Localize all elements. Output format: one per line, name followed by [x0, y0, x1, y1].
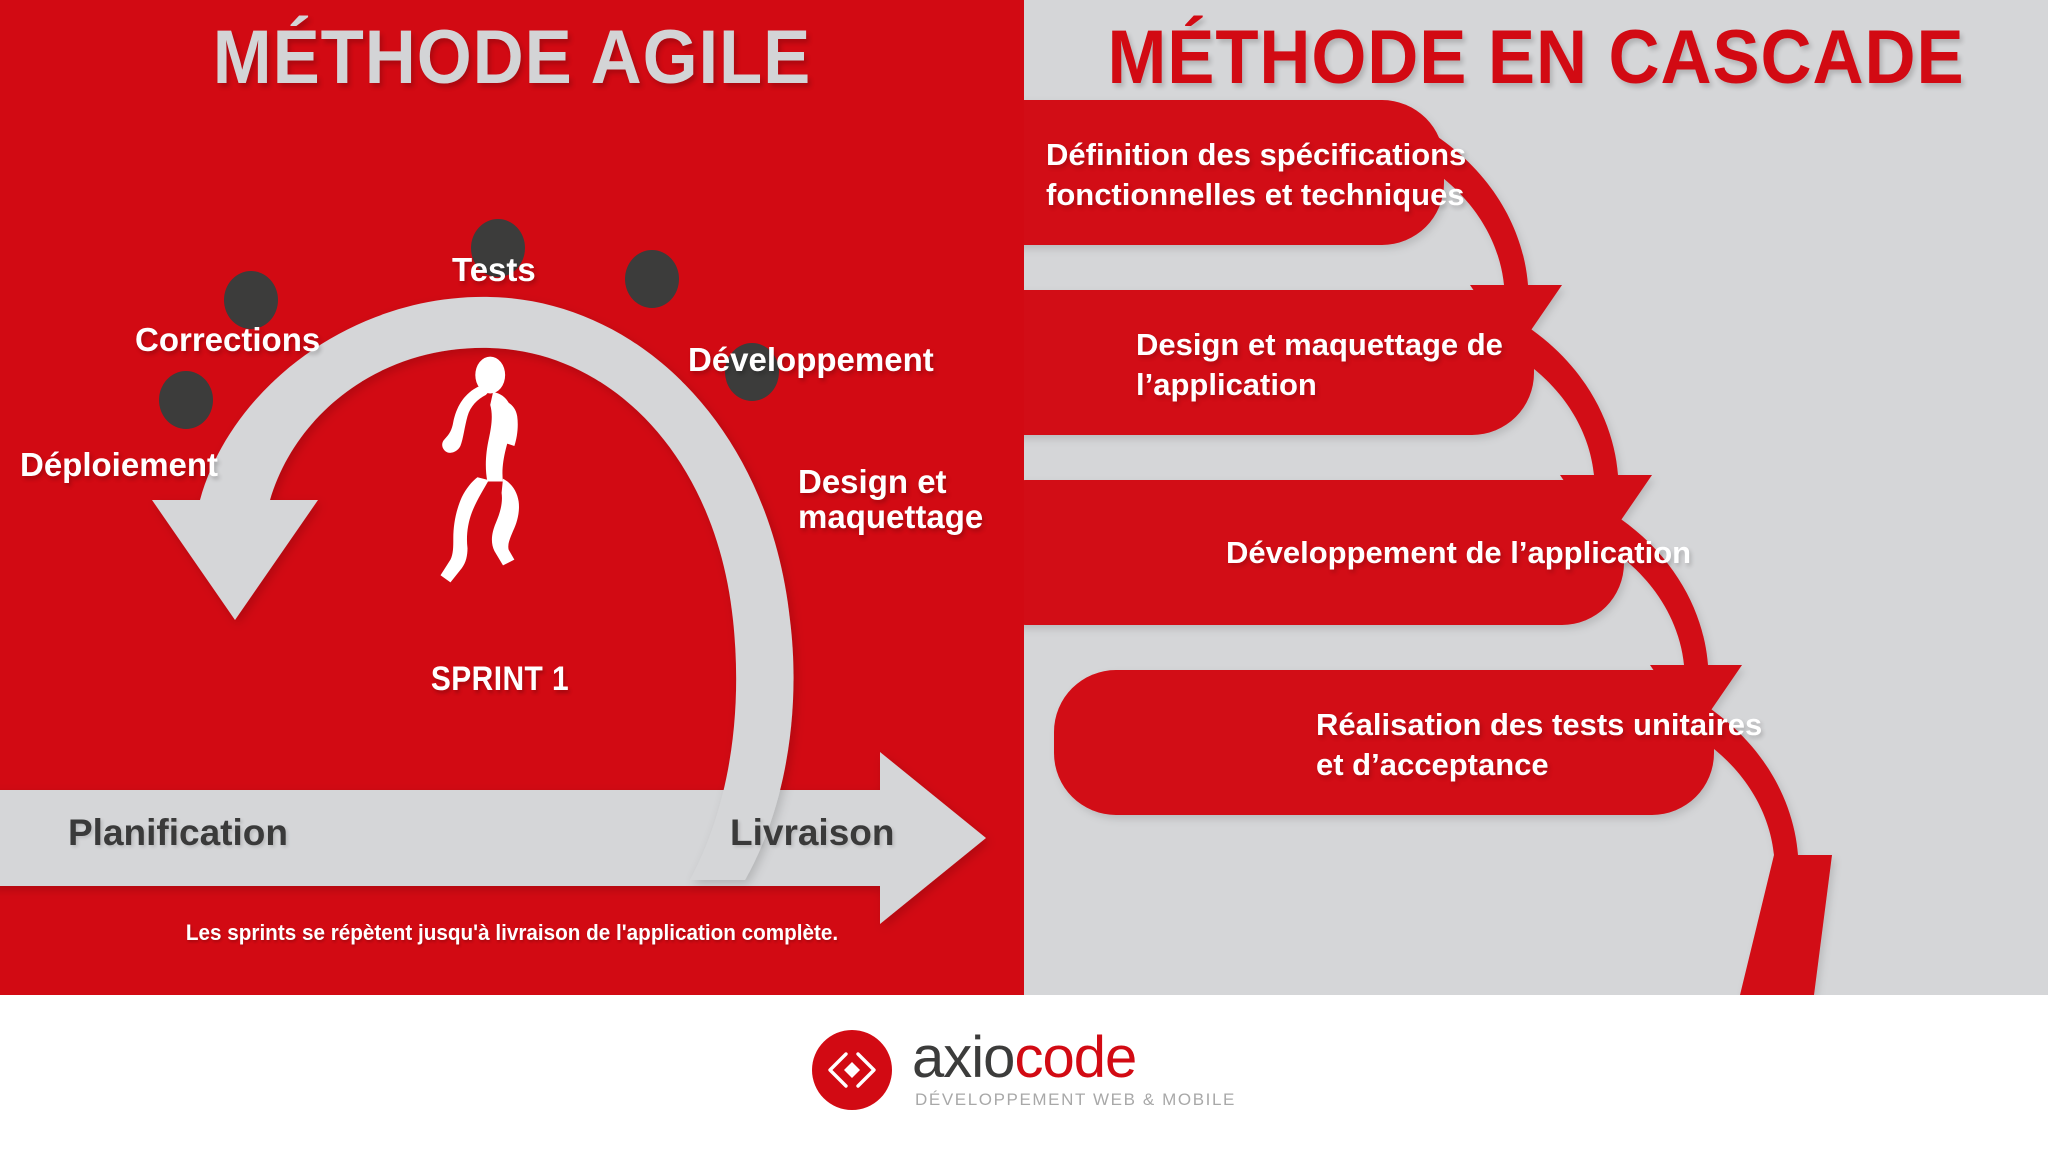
agile-panel: MÉTHODE AGILE — [0, 0, 1024, 995]
cycle-label-corrections: Corrections — [135, 323, 320, 358]
logo-wordmark-axio: axio — [912, 1025, 1014, 1090]
cycle-label-design-line2: maquettage — [798, 498, 983, 535]
footer-bar: axiocode DÉVELOPPEMENT WEB & MOBILE — [0, 995, 2048, 1152]
logo-wordmark: axiocode — [912, 1029, 1136, 1087]
waterfall-panel: MÉTHODE EN CASCADE — [1024, 0, 2048, 995]
bar-label-livraison: Livraison — [730, 812, 895, 854]
cycle-label-design-line1: Design et — [798, 463, 947, 500]
waterfall-step-2-line2: l’application — [1136, 365, 1503, 405]
infographic-canvas: MÉTHODE AGILE — [0, 0, 2048, 1152]
waterfall-step-3-text: Développement de l’application — [1226, 533, 1691, 573]
waterfall-step-4-line1: Réalisation des tests unitaires — [1316, 705, 1762, 745]
waterfall-step-1-line2: fonctionnelles et techniques — [1046, 175, 1466, 215]
logo-wordmark-code: code — [1014, 1025, 1136, 1090]
milestone-dot-developpement — [625, 250, 679, 308]
logo-tagline: DÉVELOPPEMENT WEB & MOBILE — [915, 1090, 1236, 1110]
code-brackets-icon — [812, 1030, 892, 1110]
cycle-label-design: Design et maquettage — [798, 465, 1028, 535]
waterfall-step-3-line1: Développement de l’application — [1226, 533, 1691, 573]
waterfall-step-2-text: Design et maquettage de l’application — [1136, 325, 1503, 404]
logo-text-block: axiocode DÉVELOPPEMENT WEB & MOBILE — [912, 1029, 1236, 1110]
waterfall-step-1-text: Définition des spécifications fonctionne… — [1046, 135, 1466, 214]
waterfall-step-1-line1: Définition des spécifications — [1046, 135, 1466, 175]
waterfall-step-2-line1: Design et maquettage de — [1136, 325, 1503, 365]
axiocode-logo[interactable]: axiocode DÉVELOPPEMENT WEB & MOBILE — [812, 1029, 1236, 1110]
bar-label-planification: Planification — [68, 812, 288, 854]
cycle-label-tests: Tests — [452, 253, 536, 288]
waterfall-step-4-text: Réalisation des tests unitaires et d’acc… — [1316, 705, 1762, 784]
cycle-label-developpement: Développement — [688, 343, 934, 378]
cycle-label-deploiement: Déploiement — [20, 448, 218, 483]
sprint-label: SPRINT 1 — [430, 660, 571, 699]
runner-icon — [441, 357, 519, 583]
waterfall-step-4-line2: et d’acceptance — [1316, 745, 1762, 785]
agile-caption: Les sprints se répètent jusqu'à livraiso… — [31, 920, 994, 946]
milestone-dot-deploiement — [159, 371, 213, 429]
